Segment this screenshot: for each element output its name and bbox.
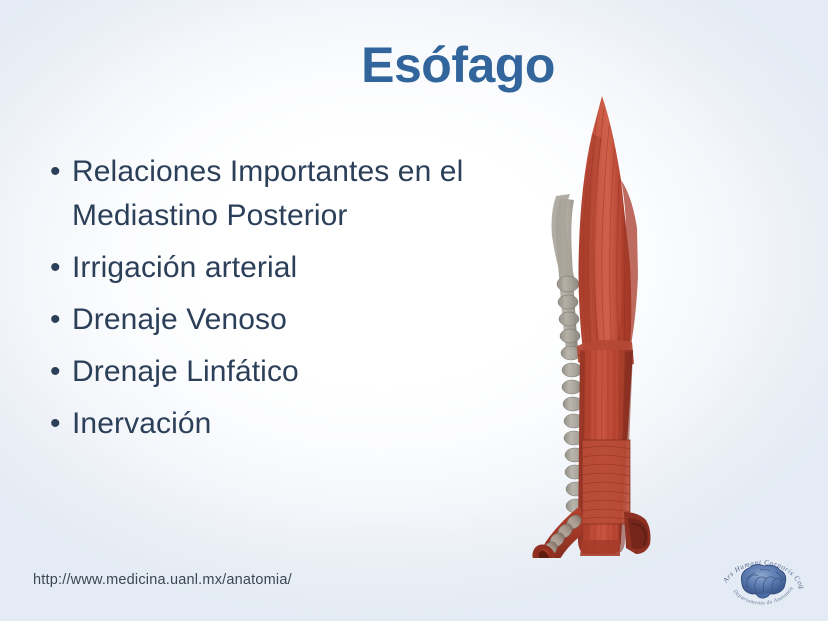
list-item: • Irrigación arterial (46, 246, 526, 290)
list-item-label: Irrigación arterial (72, 246, 526, 290)
list-item-label: Drenaje Linfático (72, 350, 526, 394)
bullet-marker-icon: • (46, 150, 72, 194)
lower-esophagus-segment (580, 540, 620, 556)
list-item: • Drenaje Linfático (46, 350, 526, 394)
bullet-marker-icon: • (46, 246, 72, 290)
list-item: • Drenaje Venoso (46, 298, 526, 342)
page-title: Esófago (0, 38, 828, 93)
esophagus-trachea-anatomy-illustration (520, 88, 710, 558)
right-bronchus-stub (624, 512, 651, 554)
brain-illustration (741, 564, 786, 598)
bullet-list: • Relaciones Importantes en el Mediastin… (46, 150, 526, 454)
circular-muscle-window (582, 440, 630, 524)
footer-url-text: http://www.medicina.uanl.mx/anatomia/ (33, 570, 292, 590)
list-item-label: Drenaje Venoso (72, 298, 526, 342)
slide-canvas: Esófago • Relaciones Importantes en el M… (0, 0, 828, 621)
anatomy-department-brain-emblem: Ars Humani Corporis Cognoscendi (712, 548, 812, 612)
upper-esophagus-muscle (579, 96, 639, 352)
left-bronchus-branch (528, 506, 584, 558)
list-item: • Inervación (46, 402, 526, 446)
bullet-marker-icon: • (46, 350, 72, 394)
bullet-marker-icon: • (46, 402, 72, 446)
list-item: • Relaciones Importantes en el Mediastin… (46, 150, 526, 238)
list-item-label: Relaciones Importantes en el Mediastino … (72, 150, 526, 238)
list-item-label: Inervación (72, 402, 526, 446)
bullet-marker-icon: • (46, 298, 72, 342)
